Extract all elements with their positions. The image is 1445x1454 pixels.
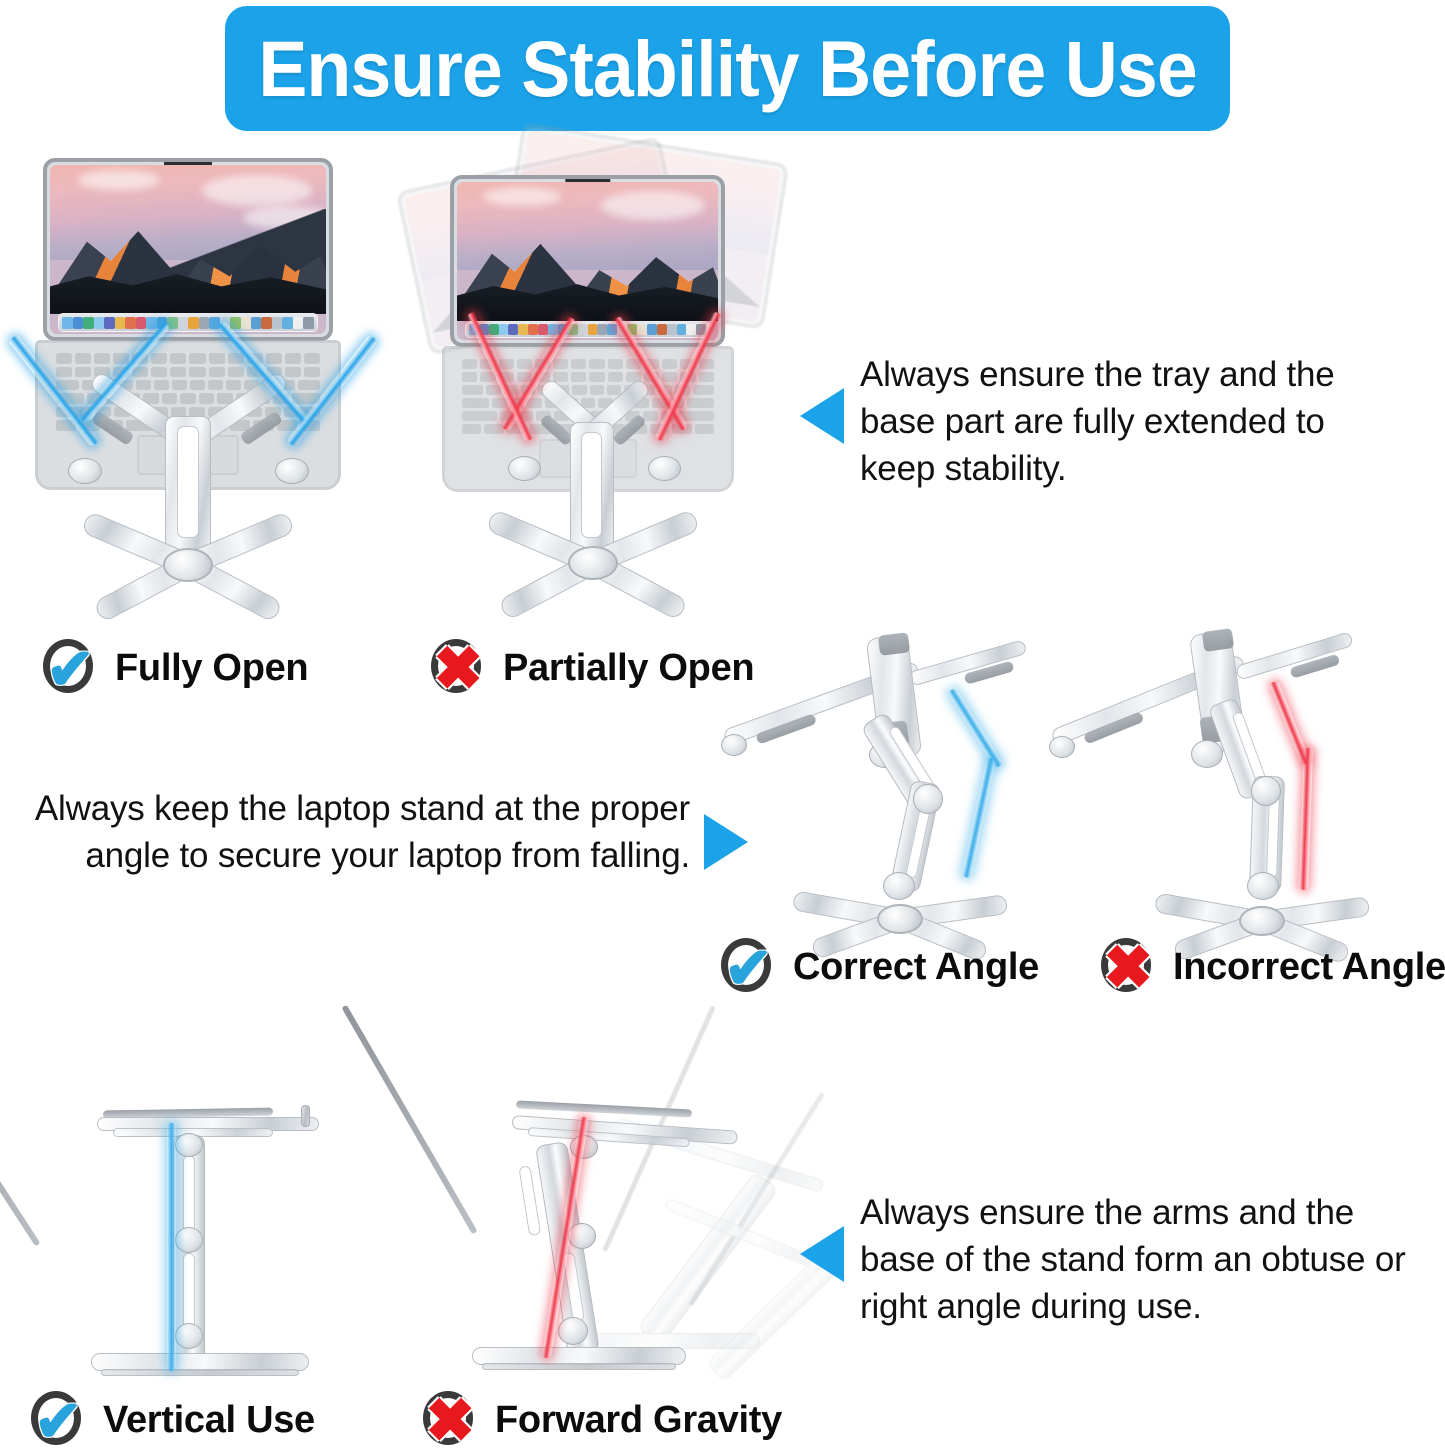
stand-x-base — [60, 510, 316, 620]
illustration-correct-angle — [715, 600, 1055, 930]
x-circle-icon: ✖ — [1098, 936, 1160, 998]
laptop-screen — [43, 158, 333, 341]
status-incorrect-angle: ✖ Incorrect Angle — [1098, 936, 1445, 998]
stand-x-base — [465, 508, 721, 618]
callout-row-3: Always ensure the arms and the base of t… — [800, 1190, 1420, 1331]
triangle-left-icon — [800, 388, 844, 444]
base-hub — [1239, 906, 1285, 936]
illustration-vertical-use — [25, 965, 405, 1385]
status-vertical-use: ✔ Vertical Use — [28, 1389, 315, 1451]
page-title: Ensure Stability Before Use — [258, 23, 1196, 115]
stand-column-slot-lower — [183, 1253, 195, 1331]
stand-joint-bottom — [558, 1317, 588, 1345]
tray-plate-pad-top — [878, 632, 910, 656]
status-label: Fully Open — [115, 647, 308, 690]
desktop-wallpaper — [50, 165, 326, 334]
x-circle-icon: ✖ — [420, 1389, 482, 1451]
stand-arm-foot-right — [275, 458, 309, 484]
stand-tray-lip — [301, 1105, 310, 1127]
tray-plate-pad-top — [1202, 628, 1234, 652]
callout-text: Always ensure the tray and the base part… — [860, 352, 1392, 493]
stand-joint-bottom — [175, 1323, 203, 1349]
base-hub — [568, 546, 618, 580]
stand-joint-top — [175, 1133, 203, 1157]
tray-plate-hinge — [1191, 740, 1223, 768]
illustration-incorrect-angle — [1045, 600, 1415, 930]
angle-indicator-lower — [962, 757, 996, 878]
stand-base-underside — [101, 1369, 299, 1376]
status-forward-gravity: ✖ Forward Gravity — [420, 1389, 782, 1451]
status-label: Forward Gravity — [495, 1399, 782, 1442]
status-fully-open: ✔ Fully Open — [40, 637, 308, 699]
desktop-wallpaper — [457, 182, 718, 340]
tray-arm-end-foot — [1049, 736, 1075, 758]
stand-arm-foot-left — [68, 458, 102, 484]
stand-elbow-joint — [913, 784, 943, 814]
stand-base-underside — [482, 1363, 676, 1370]
base-hub — [877, 904, 923, 934]
stand-elbow-joint — [1251, 776, 1281, 806]
base-hub — [163, 548, 213, 582]
x-circle-icon: ✖ — [428, 637, 490, 699]
stand-joint-mid — [568, 1223, 596, 1249]
callout-row-1: Always ensure the tray and the base part… — [800, 352, 1400, 493]
title-banner: Ensure Stability Before Use — [225, 6, 1230, 131]
macos-dock — [58, 313, 317, 332]
tray-arm-end-foot — [721, 734, 747, 756]
illustration-forward-gravity — [420, 965, 840, 1385]
status-partially-open: ✖ Partially Open — [428, 637, 754, 699]
illustration-fully-open — [35, 158, 340, 458]
stand-joint-mid — [175, 1227, 203, 1253]
triangle-left-icon — [800, 1226, 844, 1282]
stand-arm-foot-right — [648, 456, 681, 481]
stand-column-slot-upper — [183, 1155, 195, 1233]
macos-dock — [465, 321, 710, 338]
status-label: Vertical Use — [103, 1399, 315, 1442]
stand-arm-foot-left — [508, 456, 541, 481]
callout-row-2: Always keep the laptop stand at the prop… — [0, 786, 760, 880]
laptop-screen-profile — [0, 1017, 41, 1247]
status-label: Incorrect Angle — [1173, 946, 1445, 989]
illustration-partially-open — [430, 150, 760, 460]
ghost-stand-fallen — [420, 965, 840, 1385]
check-circle-icon: ✔ — [28, 1389, 90, 1451]
angle-indicator-lower — [1299, 748, 1313, 890]
check-circle-icon: ✔ — [40, 637, 102, 699]
callout-text: Always ensure the arms and the base of t… — [860, 1190, 1420, 1331]
angle-indicator-upper — [948, 688, 1003, 769]
laptop-screen — [450, 175, 725, 347]
vertical-alignment-indicator — [167, 1123, 176, 1371]
callout-text: Always keep the laptop stand at the prop… — [0, 786, 690, 880]
